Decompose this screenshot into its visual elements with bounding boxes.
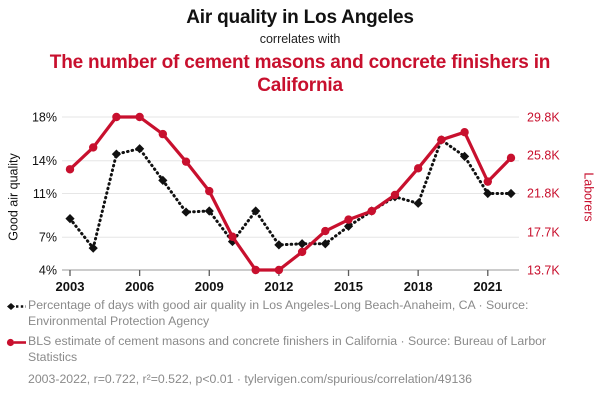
data-point-marker [437, 136, 445, 144]
y-axis-left-tick-label: 18% [32, 111, 57, 125]
data-point-marker [89, 143, 97, 151]
series-1 [65, 135, 515, 252]
page-title: Air quality in Los Angeles [0, 6, 600, 30]
y-axis-left-tick-label: 7% [39, 231, 57, 245]
data-point-marker [368, 207, 376, 215]
legend-item-laborers: BLS estimate of cement masons and concre… [0, 334, 600, 365]
y-axis-right-tick-label: 25.8K [527, 149, 560, 163]
data-point-marker [251, 266, 259, 274]
x-axis-tick-label: 2021 [473, 279, 502, 294]
data-point-marker [251, 206, 260, 215]
x-axis-tick-label: 2015 [334, 279, 363, 294]
data-point-marker [414, 164, 422, 172]
x-axis-tick-labels: 2003200620092012201520182021 [56, 279, 503, 294]
data-point-marker [414, 199, 423, 208]
data-point-marker [298, 248, 306, 256]
data-point-marker [506, 189, 515, 198]
data-point-marker [391, 191, 399, 199]
y-axis-left-labels: 4%7%11%14%18% [32, 111, 57, 278]
data-point-marker [135, 113, 143, 121]
y-axis-left-tick-label: 11% [33, 187, 57, 201]
data-point-marker [275, 266, 283, 274]
legend-marker-dotted-black-icon [6, 299, 28, 314]
page-subtitle: The number of cement masons and concrete… [0, 51, 600, 97]
data-point-marker [484, 177, 492, 185]
x-axis-tick-label: 2006 [125, 279, 154, 294]
y-axis-right-title: Laborers [582, 172, 596, 221]
data-point-marker [344, 215, 352, 223]
legend-item-air-quality: Percentage of days with good air quality… [0, 298, 600, 329]
data-point-marker [112, 150, 121, 159]
data-point-marker [321, 227, 329, 235]
x-axis-tick-label: 2009 [195, 279, 224, 294]
data-point-marker [205, 187, 213, 195]
data-point-marker [112, 113, 120, 121]
y-axis-left-tick-label: 4% [39, 264, 57, 278]
x-axis [62, 270, 519, 276]
correlation-line-chart: 4%7%11%14%18% 13.7K17.7K21.8K25.8K29.8K … [0, 100, 600, 295]
data-point-marker [274, 240, 283, 249]
title-connector: correlates with [0, 31, 600, 48]
gridlines [62, 117, 519, 270]
y-axis-right-tick-label: 17.7K [527, 225, 560, 239]
title-block: Air quality in Los Angeles correlates wi… [0, 0, 600, 97]
data-point-marker [182, 157, 190, 165]
legend-marker-solid-red-icon [6, 335, 28, 350]
data-point-marker [66, 165, 74, 173]
data-point-marker [460, 128, 468, 136]
correlation-stats-note: 2003-2022, r=0.722, r²=0.522, p<0.01 · t… [0, 372, 600, 388]
y-axis-right-tick-label: 13.7K [527, 264, 560, 278]
x-axis-tick-label: 2018 [404, 279, 433, 294]
x-axis-tick-label: 2012 [264, 279, 293, 294]
chart-page: Air quality in Los Angeles correlates wi… [0, 0, 600, 414]
legend-label-laborers: BLS estimate of cement masons and concre… [28, 334, 590, 365]
data-point-marker [228, 233, 236, 241]
data-point-marker [159, 130, 167, 138]
data-point-marker [507, 154, 515, 162]
data-point-marker [135, 144, 144, 153]
y-axis-right-tick-label: 29.8K [527, 111, 560, 125]
y-axis-right-tick-label: 21.8K [527, 187, 560, 201]
legend-label-air-quality: Percentage of days with good air quality… [28, 298, 590, 329]
chart-footer: Percentage of days with good air quality… [0, 298, 600, 388]
y-axis-left-tick-label: 14% [32, 154, 57, 168]
x-axis-tick-label: 2003 [56, 279, 85, 294]
data-point-marker [181, 207, 190, 216]
y-axis-right-labels: 13.7K17.7K21.8K25.8K29.8K [527, 111, 560, 278]
chart-area: 4%7%11%14%18% 13.7K17.7K21.8K25.8K29.8K … [0, 100, 600, 295]
y-axis-left-title: Good air quality [6, 152, 20, 240]
series-line [70, 140, 511, 248]
